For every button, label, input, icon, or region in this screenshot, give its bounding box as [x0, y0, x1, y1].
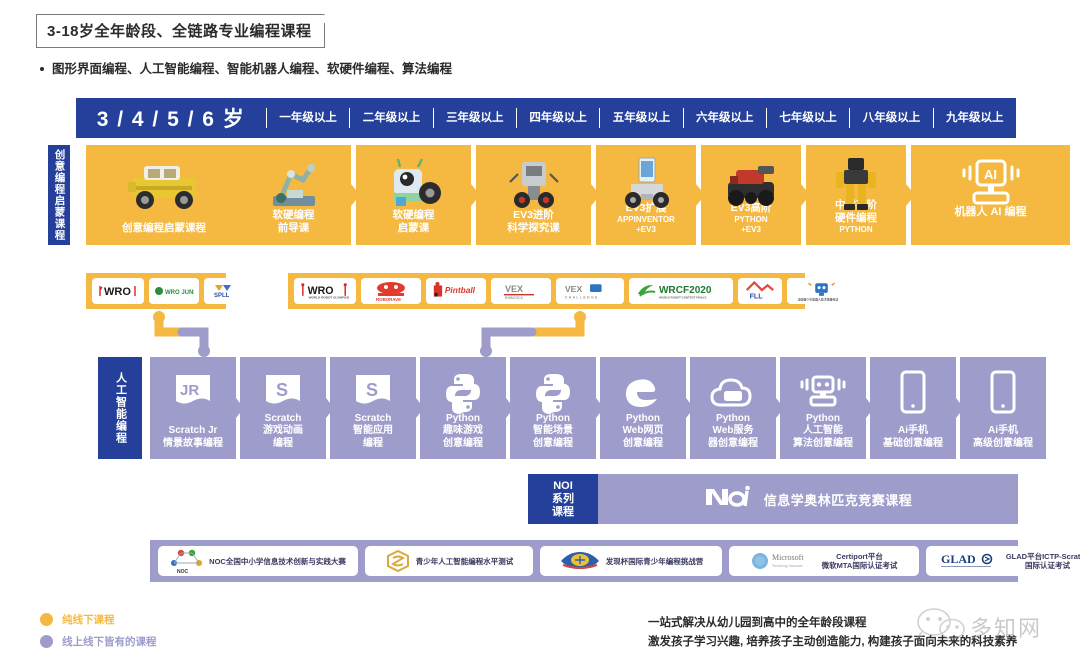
noi-label-line1: NOI — [552, 480, 574, 493]
svg-text:CHALLENGE: CHALLENGE — [565, 296, 599, 300]
legend-label: 线上线下皆有的课程 — [62, 634, 157, 649]
svg-text:ROBORAVE: ROBORAVE — [376, 297, 401, 302]
grade-label-9: 九年级以上 — [933, 108, 1016, 128]
noi-label-line3: 课程 — [552, 506, 574, 519]
python-icon — [510, 371, 596, 415]
caption-line2: 游戏动画 — [263, 425, 303, 438]
certification-item-3[interactable]: 发现杯国际青少年编程挑战营 — [540, 546, 722, 576]
svg-text:AI: AI — [984, 167, 997, 182]
offline-course-row: 创意编程启蒙课程 创意编程启蒙课程 智能机器人编程 软硬编程前导课软硬编程启蒙课… — [48, 145, 1018, 265]
python-icon — [420, 371, 506, 415]
watermark: 多知网 — [908, 604, 1064, 653]
caption-line2: 科学探究课 — [507, 222, 560, 235]
caption-line3: 创意编程 — [623, 438, 664, 451]
caption-line2: 趣味游戏 — [443, 425, 483, 438]
wro-junior-logo-icon: WRO JUNIOR — [149, 278, 199, 304]
page-title-container: 3-18岁全年龄段、全链路专业编程课程 — [36, 14, 325, 48]
ev3-phone-car-icon — [596, 153, 696, 215]
caption-line2: APPINVENTOR — [617, 215, 675, 225]
scratch-icon: S — [330, 371, 416, 415]
watermark-text: 多知网 — [970, 616, 1042, 641]
course-card-title: 创意编程启蒙课程 — [122, 222, 206, 245]
grade-label-1: 一年级以上 — [266, 108, 349, 128]
course-card-3[interactable]: 软硬编程启蒙课 — [356, 145, 471, 245]
legend-item-1: 纯线下课程 — [40, 612, 157, 627]
robot-arm-icon — [236, 153, 351, 215]
certification-item-5[interactable]: GLADGLAD平台ICTP-Scratch国际认证考试 — [926, 546, 1080, 576]
caption-line3: 算法创意编程 — [793, 438, 853, 451]
online-course-card-7[interactable]: PythonWeb服务器创意编程 — [690, 357, 776, 459]
online-card-caption: Python趣味游戏创意编程 — [443, 413, 483, 460]
online-course-card-8[interactable]: Python人工智能算法创意编程 — [780, 357, 866, 459]
caption-line2: 人工智能 — [793, 425, 853, 438]
online-card-caption: PythonWeb服务器创意编程 — [708, 413, 758, 460]
caption-line2: 智能场景 — [533, 425, 573, 438]
noi-body[interactable]: 信息学奥林匹克竞赛课程 — [598, 474, 1018, 524]
svg-text:全国青少年机器人技术等级考试: 全国青少年机器人技术等级考试 — [797, 297, 839, 302]
grade-label-7: 七年级以上 — [766, 108, 849, 128]
certification-item-1[interactable]: NOCNOC全国中小学信息技术创新与实践大赛 — [158, 546, 358, 576]
certification-label-line2: 微软MTA国际认证考试 — [822, 561, 898, 570]
certification-label: Certiport平台微软MTA国际认证考试 — [822, 552, 898, 570]
online-card-caption: Ai手机基础创意编程 — [883, 425, 943, 459]
course-card-creative-enlightenment[interactable]: 创意编程启蒙课程 — [86, 145, 242, 245]
caption-line2: 智能应用 — [353, 425, 393, 438]
caption-line2: 基础创意编程 — [883, 438, 943, 451]
caption-line1: Scratch Jr — [163, 425, 223, 438]
svg-text:VEX: VEX — [565, 284, 583, 294]
competition-logo-strip-b: WROWORLD ROBOT OLYMPIAD ROBORAVE Pintbal… — [288, 273, 805, 309]
ev3-tank-icon — [701, 153, 801, 215]
caption-line2: PYTHON — [731, 215, 772, 225]
svg-text:FLL: FLL — [750, 293, 764, 301]
legend-item-2: 线上线下皆有的课程 — [40, 634, 157, 649]
cloud-server-icon — [690, 371, 776, 415]
pintball-logo-icon: Pintball — [426, 278, 486, 304]
caption-line2: 高级创意编程 — [973, 438, 1033, 451]
bullet-icon — [40, 67, 44, 71]
course-card-4[interactable]: EV3进阶科学探究课 — [476, 145, 591, 245]
online-course-card-10[interactable]: Ai手机高级创意编程 — [960, 357, 1046, 459]
legend-swatch — [40, 635, 53, 648]
noc-icon: NOC — [170, 548, 204, 574]
microsoft-icon: MicrosoftTechnology Associate — [751, 550, 817, 572]
online-card-caption: Python智能场景创意编程 — [533, 413, 573, 460]
svg-text:S: S — [276, 380, 288, 400]
caption-line3: 编程 — [353, 438, 393, 451]
caption-line1: Ai手机 — [973, 425, 1033, 438]
noi-text: 信息学奥林匹克竞赛课程 — [764, 490, 913, 509]
svg-text:SPLL: SPLL — [214, 293, 230, 299]
svg-text:JR: JR — [180, 382, 199, 399]
wrcf2020-logo-icon: WRCF2020WORLD ROBOT CONTEST FINALS — [629, 278, 733, 304]
online-course-card-5[interactable]: Python智能场景创意编程 — [510, 357, 596, 459]
course-card-6[interactable]: EV3高阶PYTHON+EV3 — [701, 145, 801, 245]
caption-line2: 前导课 — [273, 222, 315, 235]
svg-text:GLAD: GLAD — [941, 552, 976, 566]
course-card-7[interactable]: 中学高阶硬件编程PYTHON — [806, 145, 906, 245]
grade-label-2: 二年级以上 — [349, 108, 432, 128]
scratch-icon: S — [240, 371, 326, 415]
section-label-ai-programming: 人工智能编程 — [98, 357, 142, 459]
caption-line3: 编程 — [263, 438, 303, 451]
caption-line2: 情景故事编程 — [163, 438, 223, 451]
svg-text:WRCF2020: WRCF2020 — [659, 285, 712, 296]
legend-label: 纯线下课程 — [62, 612, 115, 627]
svg-text:Microsoft: Microsoft — [772, 553, 804, 562]
certification-label: 青少年人工智能编程水平测试 — [416, 557, 514, 566]
wro-logo-icon: WRO — [92, 278, 144, 304]
ai-robot-icon: AI — [911, 153, 1070, 215]
online-card-caption: Ai手机高级创意编程 — [973, 425, 1033, 459]
robot-car-icon — [356, 153, 471, 215]
grade-label-8: 八年级以上 — [849, 108, 932, 128]
caption-line3: 创意编程 — [443, 438, 483, 451]
caption-line3: 器创意编程 — [708, 438, 758, 451]
legend: 纯线下课程线上线下皆有的课程 — [40, 612, 157, 656]
certification-label-line2: 国际认证考试 — [1006, 561, 1080, 570]
edge-browser-icon — [600, 371, 686, 415]
certification-label: 发现杯国际青少年编程挑战营 — [606, 557, 704, 566]
humanoid-robot-icon — [806, 153, 906, 215]
page-title: 3-18岁全年龄段、全链路专业编程课程 — [36, 14, 325, 48]
ai-robot-icon — [780, 371, 866, 415]
certification-label-line1: GLAD平台ICTP-Scratch — [1006, 552, 1080, 561]
age-label: 3 / 4 / 5 / 6 岁 — [76, 103, 266, 133]
svg-text:WRO JUNIOR: WRO JUNIOR — [165, 290, 194, 296]
certification-row: NOCNOC全国中小学信息技术创新与实践大赛青少年人工智能编程水平测试发现杯国际… — [150, 540, 1018, 582]
caption-line1: Ai手机 — [883, 425, 943, 438]
certification-label: GLAD平台ICTP-Scratch国际认证考试 — [1006, 552, 1080, 570]
caption-line3: 创意编程 — [533, 438, 573, 451]
glad-icon: GLAD — [939, 550, 1001, 572]
online-card-caption: Scratch智能应用编程 — [353, 413, 393, 460]
svg-text:NOC: NOC — [177, 569, 189, 574]
svg-text:WRO: WRO — [104, 286, 131, 298]
wro-logo-icon: WROWORLD ROBOT OLYMPIAD — [294, 278, 356, 304]
smartphone-icon — [960, 371, 1046, 415]
caption-line2: Web网页 — [623, 425, 664, 438]
smartphone-icon — [870, 371, 956, 415]
section-label-creative-programming: 创意编程启蒙课程 — [48, 145, 70, 245]
page-subtitle-text: 图形界面编程、人工智能编程、智能机器人编程、软硬件编程、算法编程 — [52, 62, 452, 76]
online-course-card-3[interactable]: SScratch智能应用编程 — [330, 357, 416, 459]
svg-text:VEX: VEX — [505, 284, 523, 294]
caption-line3: PYTHON — [835, 225, 877, 235]
online-course-card-2[interactable]: SScratch游戏动画编程 — [240, 357, 326, 459]
svg-text:WORLD ROBOT CONTEST FINALS: WORLD ROBOT CONTEST FINALS — [659, 296, 707, 300]
grade-label-5: 五年级以上 — [599, 108, 682, 128]
online-card-caption: Scratch Jr情景故事编程 — [163, 425, 223, 459]
roborave-logo-icon: ROBORAVE — [361, 278, 421, 304]
noi-course-row: NOI 系列 课程 信息学奥林匹克竞赛课程 — [528, 474, 1018, 524]
robot-grade-exam-logo-icon: 全国青少年机器人技术等级考试 — [787, 278, 857, 304]
svg-text:Pintball: Pintball — [445, 285, 476, 295]
vex-iq-challenge-logo-icon: VEXCHALLENGE — [556, 278, 624, 304]
lego-jeep-icon — [86, 153, 242, 215]
infographic-page: 3-18岁全年龄段、全链路专业编程课程 图形界面编程、人工智能编程、智能机器人编… — [0, 0, 1080, 667]
ev3-robot-icon — [476, 153, 591, 215]
vex-robotics-logo-icon: VEXROBOTICS — [491, 278, 551, 304]
grade-label-4: 四年级以上 — [516, 108, 599, 128]
caption-line2: Web服务 — [708, 425, 758, 438]
certification-label: NOC全国中小学信息技术创新与实践大赛 — [209, 557, 346, 566]
noi-brand-icon — [704, 485, 750, 514]
discovery-cup-icon — [559, 549, 601, 573]
online-card-caption: Python人工智能算法创意编程 — [793, 413, 853, 460]
svg-text:ROBOTICS: ROBOTICS — [505, 296, 524, 300]
grade-label-6: 六年级以上 — [683, 108, 766, 128]
course-card-8[interactable]: AI机器人 AI 编程 — [911, 145, 1070, 245]
caption-line2: 启蒙课 — [393, 222, 435, 235]
online-course-card-1[interactable]: JRScratch Jr情景故事编程 — [150, 357, 236, 459]
certification-label-line1: Certiport平台 — [822, 552, 898, 561]
noi-label-line2: 系列 — [552, 493, 574, 506]
svg-text:S: S — [366, 380, 378, 400]
certification-item-2[interactable]: 青少年人工智能编程水平测试 — [365, 546, 533, 576]
age-grade-bar: 3 / 4 / 5 / 6 岁 一年级以上二年级以上三年级以上四年级以上五年级以… — [76, 98, 1016, 138]
online-course-card-6[interactable]: PythonWeb网页创意编程 — [600, 357, 686, 459]
course-card-5[interactable]: EV3扩展APPINVENTOR+EV3 — [596, 145, 696, 245]
noi-label: NOI 系列 课程 — [528, 474, 598, 524]
grade-list: 一年级以上二年级以上三年级以上四年级以上五年级以上六年级以上七年级以上八年级以上… — [266, 106, 1016, 130]
scratchjr-icon: JR — [150, 371, 236, 415]
course-card-2[interactable]: 软硬编程前导课 — [236, 145, 351, 245]
online-course-card-4[interactable]: Python趣味游戏创意编程 — [420, 357, 506, 459]
flow-connector-right — [460, 306, 640, 362]
legend-swatch — [40, 613, 53, 626]
grade-label-3: 三年级以上 — [433, 108, 516, 128]
svg-text:Technology Associate: Technology Associate — [772, 564, 803, 568]
competition-logo-strip-a: WRO WRO JUNIOR SPLL — [86, 273, 226, 309]
svg-text:WORLD ROBOT OLYMPIAD: WORLD ROBOT OLYMPIAD — [309, 296, 350, 300]
certification-item-4[interactable]: MicrosoftTechnology AssociateCertiport平台… — [729, 546, 919, 576]
caption-line3: +EV3 — [731, 225, 772, 235]
fll-logo-icon: FLL — [738, 278, 782, 304]
page-subtitle: 图形界面编程、人工智能编程、智能机器人编程、软硬件编程、算法编程 — [40, 58, 452, 77]
online-course-card-9[interactable]: Ai手机基础创意编程 — [870, 357, 956, 459]
online-card-caption: Scratch游戏动画编程 — [263, 413, 303, 460]
online-course-row: 人工智能编程 JRScratch Jr情景故事编程SScratch游戏动画编程S… — [98, 357, 1018, 459]
spll-logo-icon: SPLL — [204, 278, 242, 304]
caption-line3: +EV3 — [617, 225, 675, 235]
aicert-icon — [385, 549, 411, 573]
online-card-caption: PythonWeb网页创意编程 — [623, 413, 664, 460]
